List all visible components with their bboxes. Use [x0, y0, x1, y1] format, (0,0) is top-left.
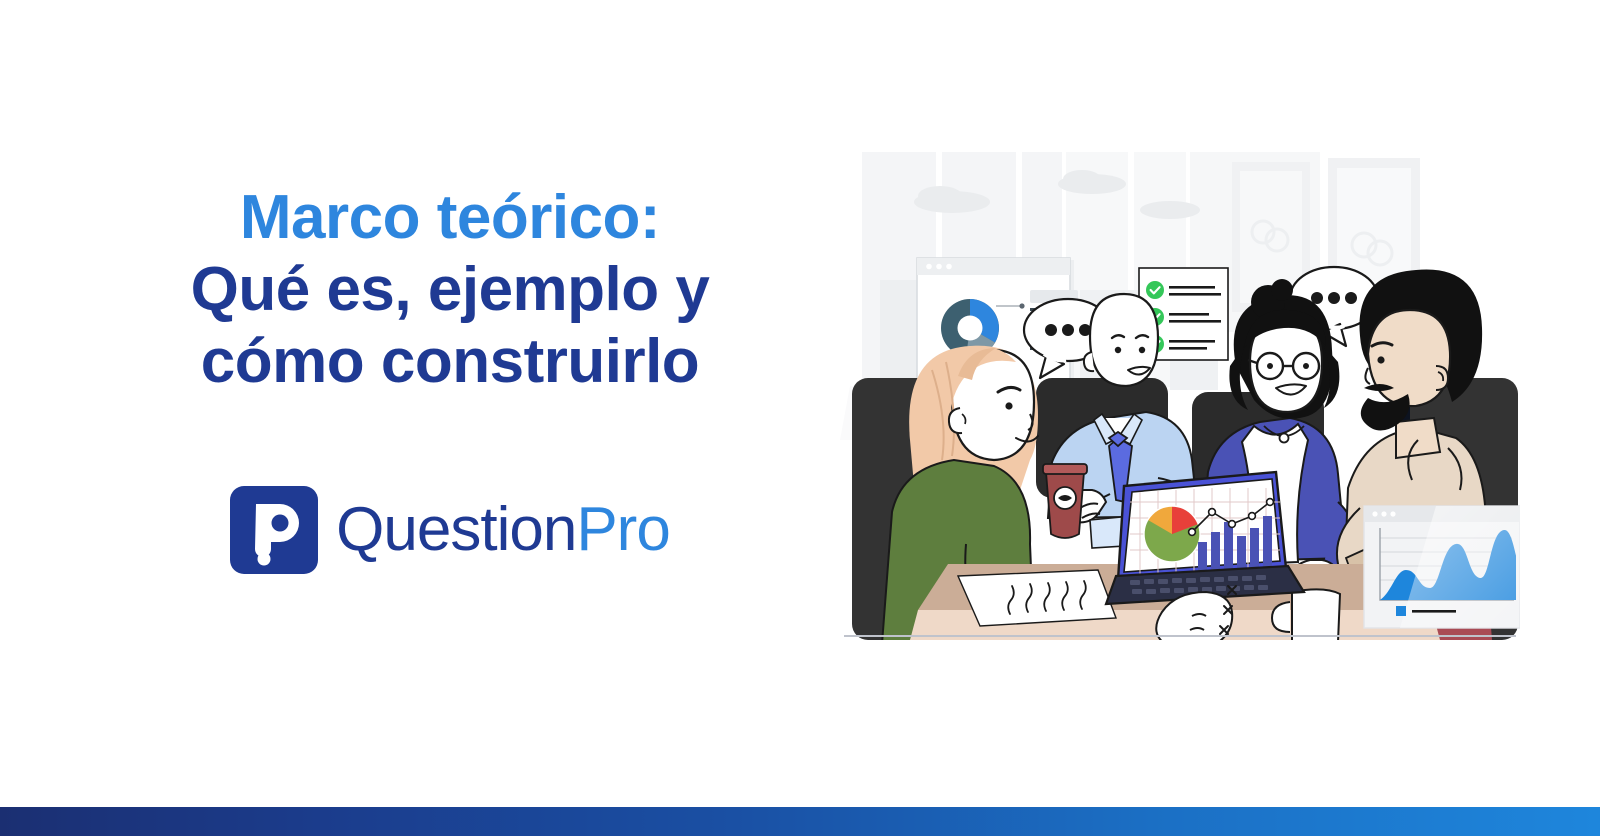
page-title-line-3: cómo construirlo — [191, 326, 710, 398]
brand-gradient-bar — [0, 807, 1600, 836]
page-title-line-2: Qué es, ejemplo y — [191, 254, 710, 326]
questionpro-wordmark: QuestionPro — [336, 499, 670, 561]
questionpro-logo[interactable]: QuestionPro — [230, 486, 670, 574]
left-content-column: Marco teórico: Qué es, ejemplo y cómo co… — [40, 0, 860, 780]
page-title: Marco teórico: Qué es, ejemplo y cómo co… — [191, 0, 710, 398]
office-meeting-illustration — [840, 140, 1520, 640]
banner-root: Marco teórico: Qué es, ejemplo y cómo co… — [0, 0, 1600, 836]
logo-word-pro: Pro — [576, 495, 669, 564]
questionpro-logo-mark — [230, 486, 318, 574]
logo-word-question: Question — [336, 495, 576, 564]
page-title-line-1: Marco teórico: — [191, 182, 710, 254]
